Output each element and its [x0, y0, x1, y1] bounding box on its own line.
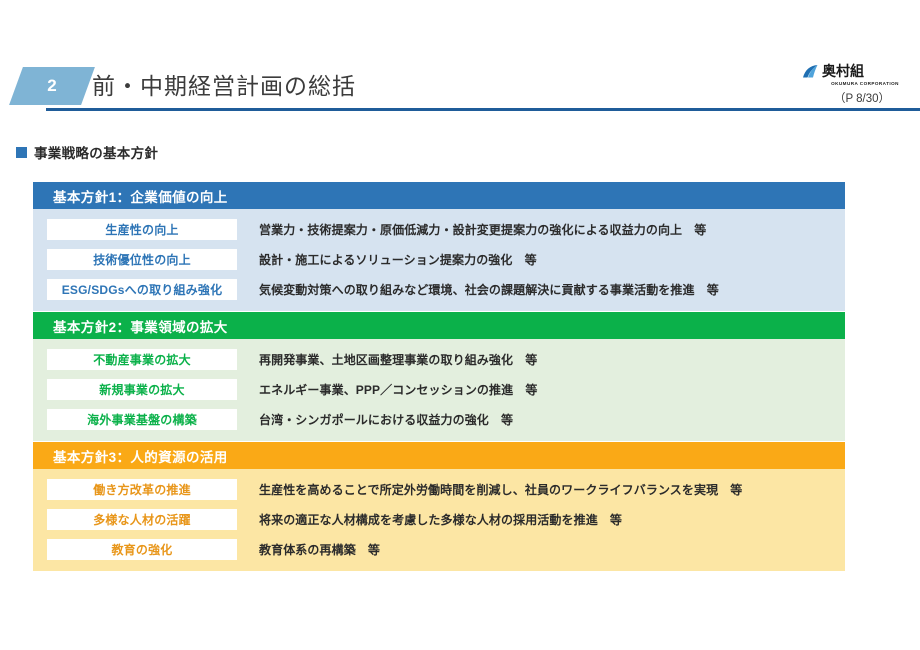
- slide-header: 2 前・中期経営計画の総括: [0, 62, 920, 114]
- policy-row-description: エネルギー事業、PPP／コンセッションの推進 等: [259, 381, 537, 398]
- policy-row: 不動産事業の拡大 再開発事業、土地区画整理事業の取り組み強化 等: [33, 347, 845, 372]
- logo-row: 奥村組: [802, 62, 910, 80]
- policy-row-label-box: 不動産事業の拡大: [47, 349, 237, 370]
- policy-row-label: 技術優位性の向上: [93, 251, 191, 268]
- policy-row-label: 不動産事業の拡大: [93, 351, 191, 368]
- policy-panel-3-body: 働き方改革の推進 生産性を高めることで所定外労働時間を削減し、社員のワークライフ…: [33, 469, 845, 571]
- policy-row-label-box: 生産性の向上: [47, 219, 237, 240]
- corporate-logo-block: 奥村組 OKUMURA CORPORATION （P 8/30）: [802, 62, 910, 106]
- square-bullet-icon: [16, 147, 27, 158]
- policy-row-description: 台湾・シンガポールにおける収益力の強化 等: [259, 411, 513, 428]
- policy-row-label: ESG/SDGsへの取り組み強化: [62, 281, 223, 298]
- policy-row: 技術優位性の向上 設計・施工によるソリューション提案力の強化 等: [33, 247, 845, 272]
- policy-row-label-box: 多様な人材の活躍: [47, 509, 237, 530]
- policy-panel-1-title: 基本方針1：企業価値の向上: [53, 186, 228, 206]
- policy-panel-1: 基本方針1：企業価値の向上 生産性の向上 営業力・技術提案力・原価低減力・設計変…: [33, 182, 845, 311]
- policy-row: 新規事業の拡大 エネルギー事業、PPP／コンセッションの推進 等: [33, 377, 845, 402]
- policy-panel-2: 基本方針2：事業領域の拡大 不動産事業の拡大 再開発事業、土地区画整理事業の取り…: [33, 312, 845, 441]
- logo-company-subtitle: OKUMURA CORPORATION: [820, 81, 910, 86]
- logo-company-name: 奥村組: [822, 64, 864, 78]
- policy-row-label: 働き方改革の推進: [93, 481, 191, 498]
- policy-row-description: 再開発事業、土地区画整理事業の取り組み強化 等: [259, 351, 537, 368]
- policy-row-description: 生産性を高めることで所定外労働時間を削減し、社員のワークライフバランスを実現 等: [259, 481, 742, 498]
- policy-row-label-box: 教育の強化: [47, 539, 237, 560]
- policy-panel-2-title: 基本方針2：事業領域の拡大: [53, 316, 228, 336]
- policy-row-description: 設計・施工によるソリューション提案力の強化 等: [259, 251, 537, 268]
- policy-row: 海外事業基盤の構築 台湾・シンガポールにおける収益力の強化 等: [33, 407, 845, 432]
- slide-canvas: 2 前・中期経営計画の総括 奥村組 OKUMURA CORPORATION （P…: [0, 0, 920, 650]
- okumura-wave-icon: [802, 64, 819, 79]
- policy-panel-3: 基本方針3：人的資源の活用 働き方改革の推進 生産性を高めることで所定外労働時間…: [33, 442, 845, 571]
- title-underline: [46, 108, 920, 111]
- policy-panel-3-title: 基本方針3：人的資源の活用: [53, 446, 228, 466]
- section-heading-label: 事業戦略の基本方針: [34, 142, 158, 162]
- policy-row-description: 営業力・技術提案力・原価低減力・設計変更提案力の強化による収益力の向上 等: [259, 221, 706, 238]
- policy-row-label: 新規事業の拡大: [99, 381, 184, 398]
- policy-row-description: 気候変動対策への取り組みなど環境、社会の課題解決に貢献する事業活動を推進 等: [259, 281, 719, 298]
- policy-row-label: 多様な人材の活躍: [93, 511, 191, 528]
- section-heading: 事業戦略の基本方針: [16, 142, 158, 162]
- policy-row: 多様な人材の活躍 将来の適正な人材構成を考慮した多様な人材の採用活動を推進 等: [33, 507, 845, 532]
- policy-row-label-box: 新規事業の拡大: [47, 379, 237, 400]
- section-number-label: 2: [34, 76, 70, 96]
- policy-row-label: 海外事業基盤の構築: [87, 411, 197, 428]
- policy-panel-2-body: 不動産事業の拡大 再開発事業、土地区画整理事業の取り組み強化 等 新規事業の拡大…: [33, 339, 845, 441]
- policy-panel-1-body: 生産性の向上 営業力・技術提案力・原価低減力・設計変更提案力の強化による収益力の…: [33, 209, 845, 311]
- policy-row-description: 教育体系の再構築 等: [259, 541, 380, 558]
- policy-row-description: 将来の適正な人材構成を考慮した多様な人材の採用活動を推進 等: [259, 511, 622, 528]
- policy-row: ESG/SDGsへの取り組み強化 気候変動対策への取り組みなど環境、社会の課題解…: [33, 277, 845, 302]
- policy-panel-1-bar: 基本方針1：企業価値の向上: [33, 182, 845, 209]
- page-marker: （P 8/30）: [814, 90, 910, 106]
- policy-row-label-box: 海外事業基盤の構築: [47, 409, 237, 430]
- policy-row: 生産性の向上 営業力・技術提案力・原価低減力・設計変更提案力の強化による収益力の…: [33, 217, 845, 242]
- policy-row: 働き方改革の推進 生産性を高めることで所定外労働時間を削減し、社員のワークライフ…: [33, 477, 845, 502]
- policy-row: 教育の強化 教育体系の再構築 等: [33, 537, 845, 562]
- policy-row-label-box: ESG/SDGsへの取り組み強化: [47, 279, 237, 300]
- policy-row-label: 生産性の向上: [105, 221, 178, 238]
- page-title: 前・中期経営計画の総括: [92, 67, 356, 101]
- policy-panel-2-bar: 基本方針2：事業領域の拡大: [33, 312, 845, 339]
- policy-row-label-box: 働き方改革の推進: [47, 479, 237, 500]
- policy-panel-3-bar: 基本方針3：人的資源の活用: [33, 442, 845, 469]
- policy-row-label: 教育の強化: [111, 541, 172, 558]
- policy-row-label-box: 技術優位性の向上: [47, 249, 237, 270]
